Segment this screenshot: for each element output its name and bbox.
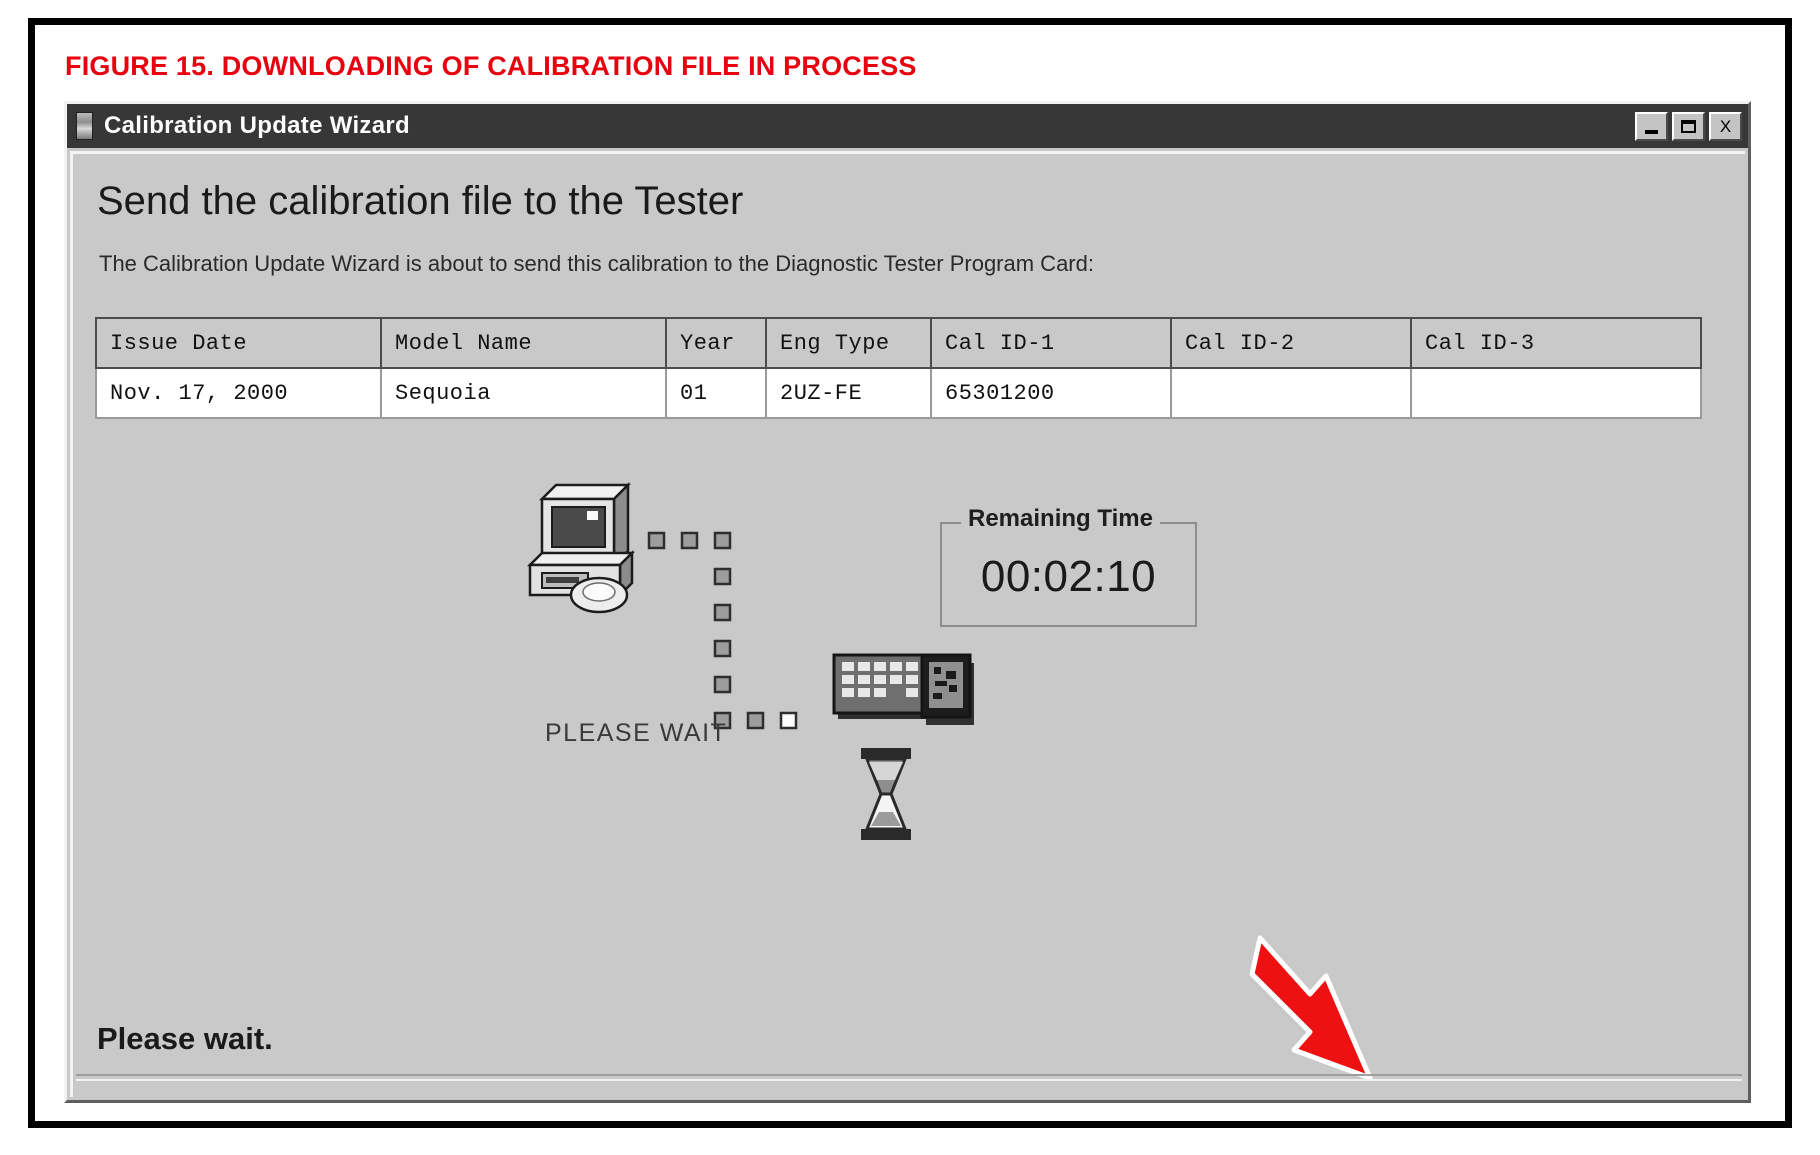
- column-header-cal-id-1: Cal ID-1: [931, 318, 1171, 368]
- cell-eng-type: 2UZ-FE: [766, 368, 931, 418]
- maximize-icon[interactable]: [1672, 112, 1705, 141]
- cell-cal-id-1: 65301200: [931, 368, 1171, 418]
- remaining-time-value: 00:02:10: [942, 552, 1195, 602]
- hourglass-icon: [855, 746, 917, 842]
- column-header-eng-type: Eng Type: [766, 318, 931, 368]
- cell-cal-id-3: [1411, 368, 1701, 418]
- calibration-table: Issue Date Model Name Year Eng Type Cal …: [95, 317, 1702, 419]
- transfer-animation-panel: PLEASE WAIT Remaining Time 00:02:10: [95, 424, 1700, 989]
- wizard-client-area: Send the calibration file to the Tester …: [70, 151, 1745, 1097]
- cell-year: 01: [666, 368, 766, 418]
- cell-issue-date: Nov. 17, 2000: [96, 368, 381, 418]
- minimize-icon[interactable]: [1635, 112, 1668, 141]
- page-description: The Calibration Update Wizard is about t…: [99, 251, 1094, 277]
- status-text: Please wait.: [97, 1021, 273, 1057]
- button-bar-separator: [76, 1074, 1742, 1081]
- column-header-cal-id-3: Cal ID-3: [1411, 318, 1701, 368]
- program-icon: [76, 112, 93, 140]
- column-header-model-name: Model Name: [381, 318, 666, 368]
- remaining-time-group: Remaining Time 00:02:10: [940, 522, 1197, 627]
- cell-model-name: Sequoia: [381, 368, 666, 418]
- column-header-cal-id-2: Cal ID-2: [1171, 318, 1411, 368]
- remaining-time-legend: Remaining Time: [961, 505, 1160, 533]
- table-header-row: Issue Date Model Name Year Eng Type Cal …: [96, 318, 1701, 368]
- cell-cal-id-2: [1171, 368, 1411, 418]
- window-title-bar[interactable]: Calibration Update Wizard X: [67, 104, 1748, 148]
- column-header-year: Year: [666, 318, 766, 368]
- wizard-window: Calibration Update Wizard X Send the cal…: [64, 101, 1751, 1103]
- close-glyph: X: [1720, 118, 1731, 135]
- column-header-issue-date: Issue Date: [96, 318, 381, 368]
- maximize-glyph: [1681, 120, 1696, 133]
- close-icon[interactable]: X: [1709, 112, 1742, 141]
- figure-frame: FIGURE 15. DOWNLOADING OF CALIBRATION FI…: [28, 18, 1792, 1128]
- figure-caption: FIGURE 15. DOWNLOADING OF CALIBRATION FI…: [65, 51, 917, 82]
- minimize-glyph: [1645, 130, 1658, 134]
- window-title: Calibration Update Wizard: [104, 112, 1631, 140]
- page-title: Send the calibration file to the Tester: [97, 179, 743, 224]
- diagnostic-tester-icon: [830, 649, 978, 734]
- please-wait-label: PLEASE WAIT: [545, 719, 727, 748]
- table-row[interactable]: Nov. 17, 2000 Sequoia 01 2UZ-FE 65301200: [96, 368, 1701, 418]
- computer-icon: [520, 479, 645, 619]
